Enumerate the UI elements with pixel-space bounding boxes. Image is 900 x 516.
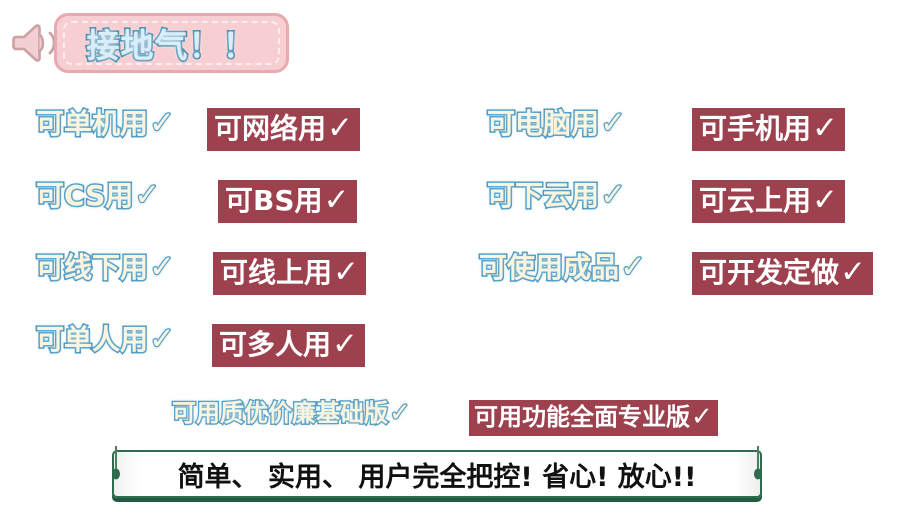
check-icon: ✓ — [333, 257, 359, 288]
check-icon: ✓ — [149, 252, 175, 283]
feature-chip: 可电脑用✓ — [487, 108, 626, 139]
feature-chip-label: 可使用成品 — [479, 254, 619, 282]
feature-chip: 可云上用✓ — [692, 180, 845, 223]
page-title: 接地气！！ — [87, 19, 257, 67]
check-icon: ✓ — [327, 113, 353, 144]
feature-row: 可CS用✓可BS用✓可下云用✓可云上用✓ — [0, 180, 900, 252]
check-icon: ✓ — [620, 252, 646, 283]
check-icon: ✓ — [324, 185, 350, 216]
feature-chip-label: 可用质优价廉基础版 — [172, 401, 388, 425]
check-icon: ✓ — [600, 180, 626, 211]
check-icon: ✓ — [600, 108, 626, 139]
pin-icon — [752, 444, 764, 486]
check-icon: ✓ — [134, 180, 160, 211]
feature-chip: 可单人用✓ — [36, 324, 175, 355]
check-icon: ✓ — [691, 404, 713, 430]
feature-chip: 可用功能全面专业版✓ — [469, 400, 718, 436]
header: 接地气！！ — [0, 0, 340, 86]
feature-chip: 可BS用✓ — [218, 180, 357, 223]
feature-chip: 可CS用✓ — [36, 180, 160, 211]
feature-chip-label: 可下云用 — [487, 182, 599, 210]
feature-chip-grid: 可单机用✓可网络用✓可电脑用✓可手机用✓可CS用✓可BS用✓可下云用✓可云上用✓… — [0, 108, 900, 468]
bottom-banner: 简单、 实用、 用户完全把控! 省心! 放心!! — [112, 450, 762, 498]
check-icon: ✓ — [332, 329, 358, 360]
feature-chip: 可使用成品✓ — [479, 252, 646, 283]
feature-row: 可单机用✓可网络用✓可电脑用✓可手机用✓ — [0, 108, 900, 180]
feature-chip: 可线下用✓ — [36, 252, 175, 283]
feature-chip-label: 可单机用 — [36, 110, 148, 138]
check-icon: ✓ — [812, 185, 838, 216]
banner-text: 简单、 实用、 用户完全把控! 省心! 放心!! — [178, 455, 697, 494]
feature-chip: 可下云用✓ — [487, 180, 626, 211]
header-title-pill: 接地气！！ — [54, 13, 289, 73]
feature-chip: 可用质优价廉基础版✓ — [172, 400, 411, 426]
check-icon: ✓ — [840, 257, 866, 288]
feature-chip: 可线上用✓ — [213, 252, 366, 295]
feature-chip-label: 可CS用 — [36, 182, 133, 210]
feature-chip-label: 可线上用 — [220, 259, 332, 287]
feature-chip-label: 可多人用 — [219, 331, 331, 359]
feature-row: 可线下用✓可线上用✓可使用成品✓可开发定做✓ — [0, 252, 900, 324]
feature-chip: 可网络用✓ — [207, 108, 360, 151]
feature-chip: 可单机用✓ — [36, 108, 175, 139]
feature-chip-label: 可单人用 — [36, 326, 148, 354]
feature-chip-label: 可电脑用 — [487, 110, 599, 138]
feature-chip: 可开发定做✓ — [692, 252, 873, 295]
feature-row: 可单人用✓可多人用✓ — [0, 324, 900, 396]
feature-chip-label: 可用功能全面专业版 — [474, 405, 690, 429]
feature-chip-label: 可手机用 — [699, 115, 811, 143]
feature-chip-label: 可开发定做 — [699, 259, 839, 287]
feature-chip-label: 可线下用 — [36, 254, 148, 282]
feature-chip-label: 可BS用 — [225, 187, 323, 215]
pin-icon — [110, 444, 122, 486]
check-icon: ✓ — [389, 400, 411, 426]
feature-chip: 可多人用✓ — [212, 324, 365, 367]
feature-chip: 可手机用✓ — [692, 108, 845, 151]
check-icon: ✓ — [149, 324, 175, 355]
feature-chip-label: 可网络用 — [214, 115, 326, 143]
check-icon: ✓ — [149, 108, 175, 139]
check-icon: ✓ — [812, 113, 838, 144]
feature-chip-label: 可云上用 — [699, 187, 811, 215]
